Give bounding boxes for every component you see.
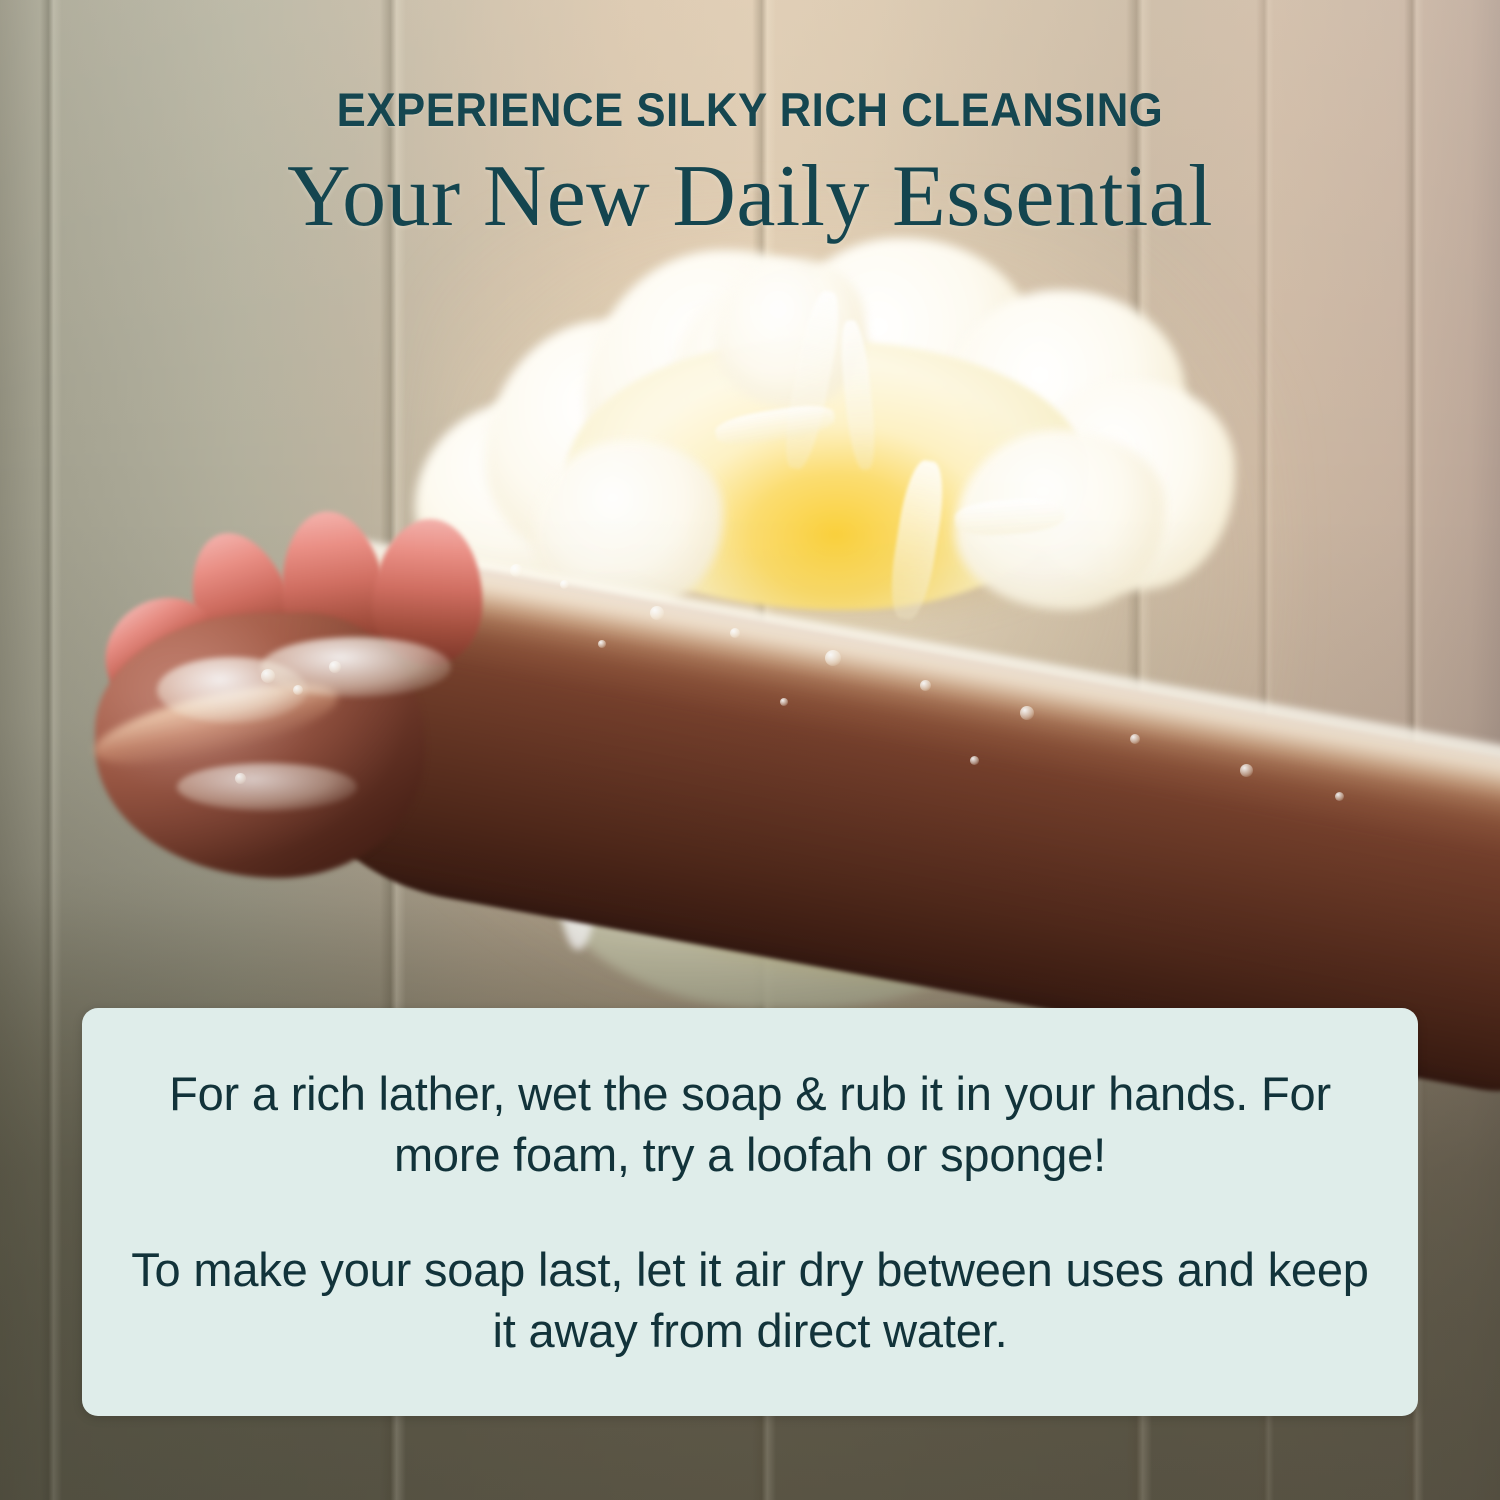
foam-bubble <box>1130 734 1140 744</box>
instruction-paragraph-lather: For a rich lather, wet the soap & rub it… <box>128 1063 1372 1185</box>
hand-foam <box>261 637 451 697</box>
foam-bubble <box>730 628 740 638</box>
product-lifestyle-poster: EXPERIENCE SILKY RICH CLEANSING Your New… <box>0 0 1500 1500</box>
foam-bubble <box>650 606 664 620</box>
foam-bubble <box>970 756 979 765</box>
foam-bubble <box>293 685 303 695</box>
foam-bubble <box>825 650 841 666</box>
foam-bubble <box>1240 764 1253 777</box>
foam-bubble <box>780 698 788 706</box>
open-hand <box>85 505 605 905</box>
foam-bubble <box>235 773 246 784</box>
foam-bubble <box>329 661 341 673</box>
foam-bubble <box>1335 792 1344 801</box>
instruction-paragraph-storage: To make your soap last, let it air dry b… <box>128 1239 1372 1361</box>
hand-foam <box>177 763 357 811</box>
foam-bubble <box>1020 706 1034 720</box>
foam-bubble <box>261 669 275 683</box>
foam-bubble <box>920 680 931 691</box>
usage-instructions-panel: For a rich lather, wet the soap & rub it… <box>82 1008 1418 1416</box>
